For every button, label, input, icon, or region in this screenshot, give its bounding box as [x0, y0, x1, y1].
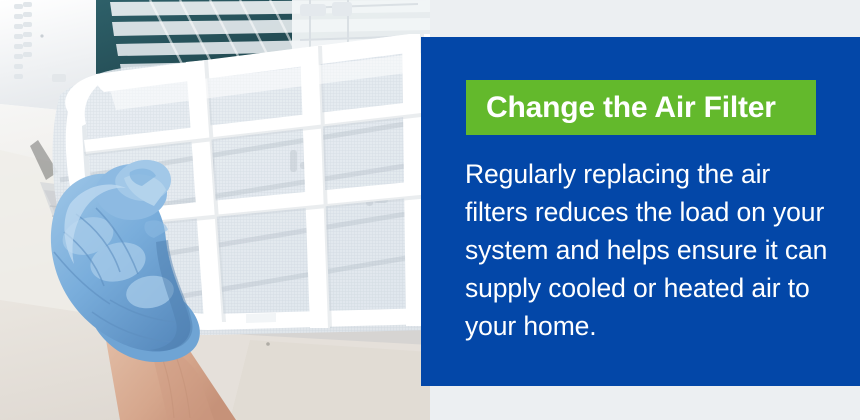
description-line: supply cooled or heated air to — [465, 269, 845, 307]
headline-text: Change the Air Filter — [486, 80, 808, 135]
description-line: Regularly replacing the air — [465, 155, 845, 193]
headline-badge: Change the Air Filter — [466, 80, 816, 135]
info-panel: Change the Air Filter Regularly replacin… — [421, 37, 860, 386]
description-line: your home. — [465, 307, 845, 345]
description-text: Regularly replacing the air filters redu… — [465, 155, 845, 345]
description-line: filters reduces the load on your — [465, 193, 845, 231]
air-filter-photo — [0, 0, 430, 420]
description-line: system and helps ensure it can — [465, 231, 845, 269]
promo-banner: Change the Air Filter Regularly replacin… — [0, 0, 860, 420]
